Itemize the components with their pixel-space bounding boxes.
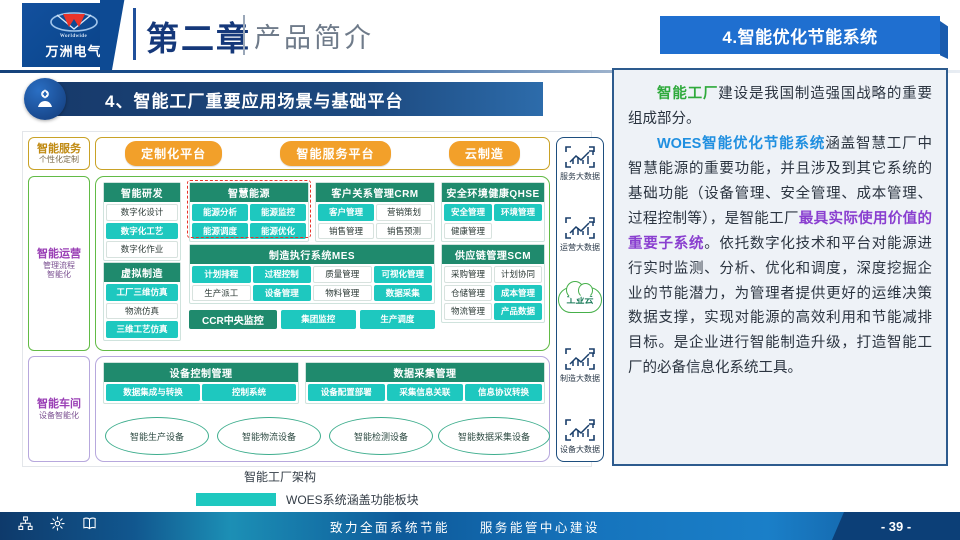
module-title: 制造执行系统MES bbox=[190, 245, 434, 264]
page-number: - 39 - bbox=[832, 512, 960, 540]
rail-label: 设备大数据 bbox=[560, 444, 600, 455]
w-shield-emblem bbox=[49, 11, 99, 33]
smart-factory-architecture-diagram: 智能服务 个性化定制 智能运营 管理流程 智能化 智能车间 设备智能化 定制化平… bbox=[22, 131, 592, 467]
module-chip[interactable]: 仓储管理 bbox=[444, 285, 492, 302]
legend-title: 智能工厂架构 bbox=[244, 468, 496, 485]
module-chip[interactable]: 信息协议转换 bbox=[465, 384, 542, 401]
module-title: 智慧能源 bbox=[190, 183, 308, 202]
platform-pill-cloud[interactable]: 云制造 bbox=[449, 141, 520, 166]
module-card-crm[interactable]: 客户关系管理CRM 客户管理 营销策划 销售管理 销售预测 bbox=[315, 182, 435, 242]
module-chip[interactable]: 可视化管理 bbox=[374, 266, 433, 283]
platform-row: 定制化平台 智能服务平台 云制造 bbox=[95, 137, 550, 170]
module-chip[interactable]: 客户管理 bbox=[318, 204, 374, 221]
module-chip[interactable]: 控制系统 bbox=[202, 384, 296, 401]
module-chip[interactable]: 物料管理 bbox=[313, 285, 372, 302]
ccr-strip: CCR中央监控 集团监控 生产调度 bbox=[189, 310, 435, 329]
equipment-ellipse[interactable]: 智能数据采集设备 bbox=[438, 417, 550, 455]
module-card-mes[interactable]: 制造执行系统MES 计划排程 过程控制 质量管理 可视化管理 生产派工 设备管理… bbox=[189, 244, 435, 304]
module-chip[interactable]: 物流仿真 bbox=[106, 303, 178, 320]
hand-gear-icon bbox=[24, 78, 66, 120]
rail-item-equipment-bigdata[interactable]: 设备大数据 bbox=[560, 417, 600, 455]
module-chip[interactable]: 能源分析 bbox=[192, 204, 248, 221]
chapter-separator bbox=[243, 15, 245, 55]
module-title: 设备控制管理 bbox=[104, 363, 298, 382]
module-title: 安全环境健康QHSE bbox=[442, 183, 544, 202]
module-card-data-acquisition[interactable]: 数据采集管理 设备配置部署 采集信息关联 信息协议转换 bbox=[305, 362, 545, 404]
module-chip[interactable]: 数字化工艺 bbox=[106, 223, 178, 240]
rail-label: 运营大数据 bbox=[560, 242, 600, 253]
logo-brand-cn: 万洲电气 bbox=[45, 41, 101, 60]
module-chip[interactable]: 环境管理 bbox=[494, 204, 542, 221]
module-chip[interactable]: 营销策划 bbox=[376, 204, 432, 221]
module-chip[interactable]: 能源优化 bbox=[250, 223, 306, 240]
legend-color-swatch bbox=[196, 493, 276, 506]
lane-label-smart-workshop: 智能车间 设备智能化 bbox=[28, 356, 90, 462]
sitemap-icon[interactable] bbox=[18, 516, 33, 536]
module-card-device-control[interactable]: 设备控制管理 数据集成与转换 控制系统 bbox=[103, 362, 299, 404]
module-chip[interactable]: 生产调度 bbox=[360, 310, 435, 329]
big-data-rail: 服务大数据 运营大数据 工业云 制造大数据 bbox=[556, 137, 604, 462]
chapter-subtitle: 产品简介 bbox=[254, 16, 374, 55]
chapter-divider bbox=[133, 8, 136, 60]
module-chip[interactable]: 计划排程 bbox=[192, 266, 251, 283]
module-chip[interactable]: 三维工艺仿真 bbox=[106, 321, 178, 338]
module-chip[interactable]: 能源监控 bbox=[250, 204, 306, 221]
lane-label-smart-service: 智能服务 个性化定制 bbox=[28, 137, 90, 170]
module-chip[interactable]: 过程控制 bbox=[253, 266, 312, 283]
diagram-legend: 智能工厂架构 WOES系统涵盖功能板块 bbox=[196, 468, 496, 508]
module-chip[interactable]: 成本管理 bbox=[494, 285, 542, 302]
lane-title: 智能服务 bbox=[37, 143, 81, 156]
module-title: 供应链管理SCM bbox=[442, 245, 544, 264]
bar-chart-icon bbox=[563, 346, 597, 372]
rail-label: 制造大数据 bbox=[560, 373, 600, 384]
footer-slogan: 致力全面系统节能 服务能管中心建设 bbox=[330, 517, 600, 536]
module-title: 虚拟制造 bbox=[104, 263, 180, 282]
module-card-virtual-manufacturing[interactable]: 虚拟制造 工厂三维仿真 物流仿真 三维工艺仿真 bbox=[103, 262, 181, 341]
module-chip[interactable]: 健康管理 bbox=[444, 223, 492, 240]
module-chip[interactable]: 产品数据 bbox=[494, 303, 542, 320]
module-card-qhse[interactable]: 安全环境健康QHSE 安全管理 环境管理 健康管理 bbox=[441, 182, 545, 242]
module-chip[interactable]: 能源调度 bbox=[192, 223, 248, 240]
paragraph-1: 智能工厂建设是我国制造强国战略的重要组成部分。 bbox=[628, 82, 932, 132]
rail-item-operation-bigdata[interactable]: 运营大数据 bbox=[560, 215, 600, 253]
module-chip[interactable]: 采购管理 bbox=[444, 266, 492, 283]
module-card-scm[interactable]: 供应链管理SCM 采购管理 计划协同 仓储管理 成本管理 物流管理 产品数据 bbox=[441, 244, 545, 323]
lane-title: 智能运营 bbox=[37, 248, 81, 261]
module-chip[interactable]: 数字化作业 bbox=[106, 241, 178, 258]
bar-chart-icon bbox=[563, 417, 597, 443]
equipment-ellipse[interactable]: 智能检测设备 bbox=[329, 417, 433, 455]
legend-label: WOES系统涵盖功能板块 bbox=[286, 491, 419, 508]
rail-label: 服务大数据 bbox=[560, 171, 600, 182]
highlight-green: 智能工厂 bbox=[657, 86, 718, 102]
module-chip[interactable]: 销售预测 bbox=[376, 223, 432, 240]
module-card-rd[interactable]: 智能研发 数字化设计 数字化工艺 数字化作业 bbox=[103, 182, 181, 261]
lane-subtitle: 个性化定制 bbox=[39, 155, 79, 164]
module-card-smart-energy[interactable]: 智慧能源 能源分析 能源监控 能源调度 能源优化 bbox=[189, 182, 309, 242]
module-chip[interactable]: 采集信息关联 bbox=[387, 384, 464, 401]
lane-subtitle: 设备智能化 bbox=[39, 411, 79, 420]
gear-icon[interactable] bbox=[50, 516, 65, 536]
bar-chart-icon bbox=[563, 215, 597, 241]
highlight-blue: WOES智能优化节能系统 bbox=[657, 136, 825, 152]
module-chip[interactable]: 设备管理 bbox=[253, 285, 312, 302]
module-chip[interactable]: 生产派工 bbox=[192, 285, 251, 302]
equipment-ellipse[interactable]: 智能生产设备 bbox=[105, 417, 209, 455]
module-chip[interactable]: 数字化设计 bbox=[106, 204, 178, 221]
module-title: 客户关系管理CRM bbox=[316, 183, 434, 202]
section-title-text: 4、智能工厂重要应用场景与基础平台 bbox=[105, 87, 403, 112]
rail-item-manufacturing-bigdata[interactable]: 制造大数据 bbox=[560, 346, 600, 384]
section-title-bar: 4、智能工厂重要应用场景与基础平台 bbox=[55, 82, 543, 116]
rail-item-service-bigdata[interactable]: 服务大数据 bbox=[560, 144, 600, 182]
book-icon[interactable] bbox=[82, 516, 97, 536]
equipment-ellipse[interactable]: 智能物流设备 bbox=[217, 417, 321, 455]
platform-pill-custom[interactable]: 定制化平台 bbox=[125, 141, 222, 166]
module-chip[interactable]: 销售管理 bbox=[318, 223, 374, 240]
module-chip[interactable]: 工厂三维仿真 bbox=[106, 284, 178, 301]
module-chip[interactable]: 计划协同 bbox=[494, 266, 542, 283]
paragraph-2: WOES智能优化节能系统涵盖智慧工厂中智慧能源的重要功能，并且涉及到其它系统的基… bbox=[628, 132, 932, 381]
module-title: 智能研发 bbox=[104, 183, 180, 202]
module-chip[interactable]: 设备配置部署 bbox=[308, 384, 385, 401]
lane-title: 智能车间 bbox=[37, 398, 81, 411]
module-chip[interactable]: 数据集成与转换 bbox=[106, 384, 200, 401]
footer-slogan-left: 致力全面系统节能 bbox=[330, 521, 450, 535]
module-chip[interactable]: 安全管理 bbox=[444, 204, 492, 221]
module-chip[interactable]: 集团监控 bbox=[281, 310, 356, 329]
chapter-title: 第二章 bbox=[146, 12, 251, 60]
slide-footer: 致力全面系统节能 服务能管中心建设 - 39 - bbox=[0, 512, 960, 540]
platform-pill-service[interactable]: 智能服务平台 bbox=[280, 141, 390, 166]
module-title-ccr[interactable]: CCR中央监控 bbox=[189, 310, 277, 329]
module-chip[interactable]: 质量管理 bbox=[313, 266, 372, 283]
paragraph-2-tail: 。依托数字化技术和平台对能源进行实时监测、分析、优化和调度，深度挖掘企业的节能潜… bbox=[628, 236, 932, 377]
right-panel-title: 4.智能优化节能系统 bbox=[660, 16, 940, 54]
module-chip[interactable]: 数据采集 bbox=[374, 285, 433, 302]
lane-label-smart-operation: 智能运营 管理流程 智能化 bbox=[28, 176, 90, 351]
right-panel-body: 智能工厂建设是我国制造强国战略的重要组成部分。 WOES智能优化节能系统涵盖智慧… bbox=[612, 68, 948, 466]
rail-label: 工业云 bbox=[566, 293, 593, 306]
lane-subtitle-line2: 智能化 bbox=[47, 270, 71, 279]
lane-subtitle-line1: 管理流程 bbox=[43, 261, 75, 270]
module-chip[interactable]: 物流管理 bbox=[444, 303, 492, 320]
bar-chart-icon bbox=[563, 144, 597, 170]
cloud-icon[interactable]: 工业云 bbox=[558, 287, 602, 313]
module-title: 数据采集管理 bbox=[306, 363, 544, 382]
logo-subtext: Worldwide bbox=[60, 34, 87, 39]
footer-slogan-right: 服务能管中心建设 bbox=[480, 521, 600, 535]
